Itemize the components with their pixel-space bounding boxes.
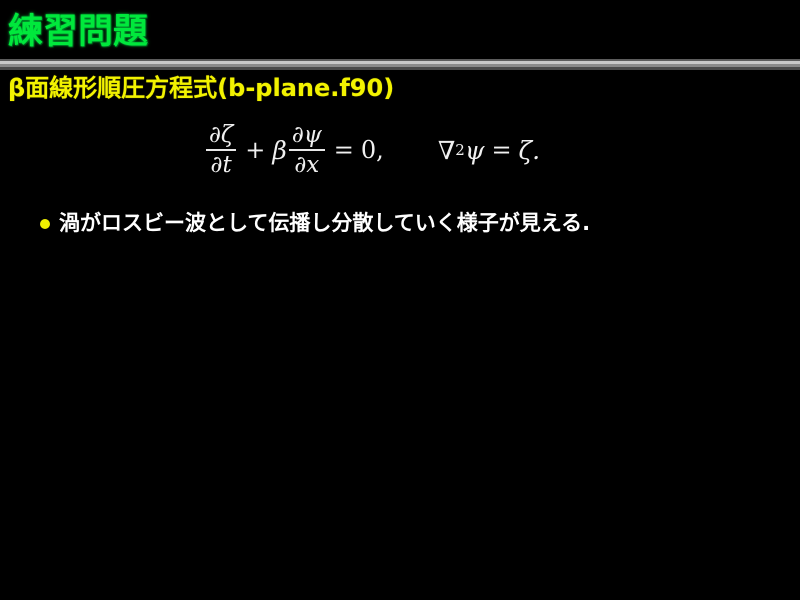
fraction-dzeta-dt: ∂ζ ∂t <box>206 122 236 178</box>
math-equation: ∂ζ ∂t + β ∂ψ ∂x = 0, ∇2 ψ = ζ. <box>0 112 800 188</box>
plus-operator: + <box>238 136 272 164</box>
slide-subtitle: β面線形順圧方程式(b-plane.f90) <box>8 74 394 102</box>
equals-operator: = <box>484 136 518 164</box>
equation-poisson: ∇2 ψ = ζ. <box>438 136 540 165</box>
presentation-slide: 練習問題 β面線形順圧方程式(b-plane.f90) ∂ζ ∂t + β ∂ψ <box>0 0 800 600</box>
bullet-list: 渦がロスビー波として伝播し分散していく様子が見える. <box>40 210 780 246</box>
list-item-label: 渦がロスビー波として伝播し分散していく様子が見える. <box>59 210 590 236</box>
beta-symbol: β <box>272 136 286 165</box>
equation-lhs: ∂ζ ∂t + β ∂ψ ∂x = 0, <box>204 122 384 178</box>
psi-symbol: ψ <box>465 136 485 165</box>
equals-operator: = <box>327 136 361 164</box>
fraction-dpsi-dx: ∂ψ ∂x <box>289 122 325 178</box>
fraction-denominator: ∂x <box>291 152 322 178</box>
title-separator-rule <box>0 59 800 70</box>
fraction-denominator: ∂t <box>208 152 235 178</box>
separator-shadow <box>0 67 800 70</box>
fraction-numerator: ∂ζ <box>206 122 236 148</box>
fraction-bar <box>206 149 236 151</box>
equation-row: ∂ζ ∂t + β ∂ψ ∂x = 0, ∇2 ψ = ζ. <box>204 122 540 178</box>
list-item: 渦がロスビー波として伝播し分散していく様子が見える. <box>40 210 780 236</box>
slide-title-block: 練習問題 <box>0 8 800 60</box>
zeta-symbol: ζ. <box>519 136 541 165</box>
equation-rhs-zero: 0, <box>361 136 384 164</box>
page-title: 練習問題 <box>8 10 148 54</box>
fraction-bar <box>289 149 325 151</box>
fraction-numerator: ∂ψ <box>289 122 325 148</box>
bullet-dot-icon <box>40 219 50 229</box>
nabla-symbol: ∇ <box>438 136 455 165</box>
nabla-exponent: 2 <box>455 141 465 159</box>
